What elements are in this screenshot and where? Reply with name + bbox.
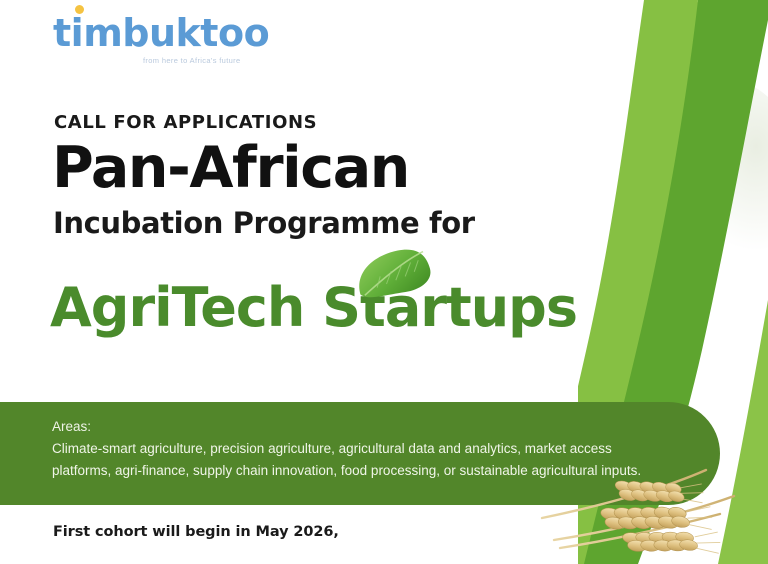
areas-label: Areas: [52, 416, 682, 438]
page-subtitle: Incubation Programme for [53, 209, 475, 238]
logo-dot-icon [75, 5, 84, 14]
page-title: Pan-African [52, 140, 409, 197]
eyebrow-heading: CALL FOR APPLICATIONS [54, 112, 317, 133]
logo-tagline: from here to Africa's future [143, 56, 241, 65]
cohort-note: First cohort will begin in May 2026, [53, 524, 339, 540]
areas-banner-content: Areas: Climate-smart agriculture, precis… [52, 416, 682, 482]
areas-body-text: Climate-smart agriculture, precision agr… [52, 438, 674, 482]
areas-banner: Areas: Climate-smart agriculture, precis… [0, 402, 720, 505]
poster-canvas: timbuktoo from here to Africa's future C… [0, 0, 768, 564]
page-title-highlight: AgriTech Startups [50, 281, 577, 335]
logo-wordmark: timbuktoo [53, 14, 323, 52]
leaf-icon [350, 249, 434, 299]
brand-logo[interactable]: timbuktoo from here to Africa's future [53, 14, 323, 76]
